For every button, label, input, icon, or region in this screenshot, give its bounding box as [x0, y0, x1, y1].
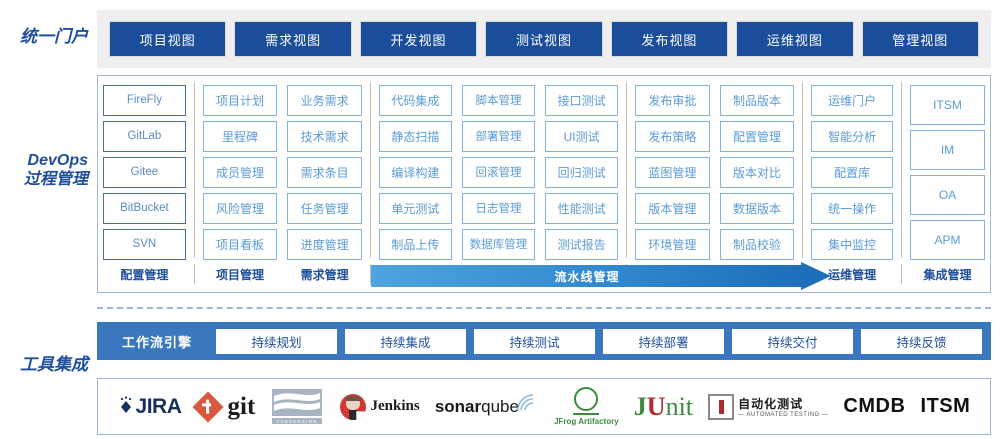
devops-cell[interactable]: 技术需求	[287, 121, 362, 152]
itsm-logo: ITSM	[921, 385, 971, 429]
devops-column-6: 接口测试UI测试回归测试性能测试测试报告	[540, 76, 623, 262]
portal-button-5[interactable]: 发布视图	[611, 21, 728, 57]
git-logo: git	[197, 385, 256, 429]
junit-logo: JUnit	[634, 385, 693, 429]
jfrog-underline	[573, 413, 599, 415]
devops-cell[interactable]: 测试报告	[545, 229, 618, 260]
devops-column-7: 发布审批发布策略蓝图管理版本管理环境管理	[630, 76, 715, 262]
devops-column-footer: 配置管理	[98, 262, 191, 286]
footer-group-1: 配置管理	[98, 262, 191, 286]
devops-cell[interactable]: 编译构建	[379, 157, 452, 188]
devops-column-footer: 需求管理	[282, 262, 367, 286]
row-label-tools: 工具集成	[0, 355, 88, 375]
devops-cell[interactable]: 版本管理	[635, 193, 710, 224]
itsm-wordmark: ITSM	[921, 395, 971, 418]
jenkins-wordmark: Jenkins	[371, 398, 420, 415]
workflow-stage-3[interactable]: 持续测试	[474, 329, 595, 354]
jfrog-wordmark: JFrog Artifactory	[554, 417, 619, 426]
column-group-5: 运维门户智能分析配置库统一操作集中监控	[806, 76, 898, 262]
column-group-4: 发布审批发布策略蓝图管理版本管理环境管理制品版本配置管理版本对比数据版本制品校验	[630, 76, 799, 262]
column-group-divider	[194, 82, 195, 258]
jira-icon	[118, 396, 134, 418]
devops-column-1: FireFlyGitLabGiteeBitBucketSVN	[98, 76, 191, 262]
automated-testing-icon	[708, 394, 734, 420]
sonarqube-logo: sonar qube	[435, 385, 539, 429]
devops-cell[interactable]: 部署管理	[462, 121, 535, 152]
sonarqube-wordmark-bold: sonar	[435, 397, 481, 417]
devops-cell[interactable]: 回滚管理	[462, 157, 535, 188]
jfrog-artifactory-logo: JFrog Artifactory	[554, 385, 619, 429]
footer-group-divider	[194, 264, 195, 284]
devops-cell[interactable]: IM	[910, 130, 985, 170]
devops-column-footer: 项目管理	[198, 262, 283, 286]
devops-cell[interactable]: 制品版本	[720, 85, 795, 116]
devops-cell[interactable]: 统一操作	[811, 193, 893, 224]
jenkins-icon	[340, 394, 366, 420]
devops-cell[interactable]: 业务需求	[287, 85, 362, 116]
workflow-stage-2[interactable]: 持续集成	[345, 329, 466, 354]
automated-testing-logo: 自动化测试 — AUTOMATED TESTING —	[708, 385, 828, 429]
arrow-head	[801, 262, 831, 290]
portal-button-7[interactable]: 管理视图	[862, 21, 979, 57]
footer-group-6: 集成管理	[905, 262, 990, 286]
pipeline-management-arrow: 流水线管理	[371, 265, 831, 287]
tool-logo-strip: JIRA git SUBVERSION Jenkins sonar qube	[97, 378, 991, 435]
devops-cell[interactable]: ITSM	[910, 85, 985, 125]
portal-button-4[interactable]: 测试视图	[485, 21, 602, 57]
junit-wordmark-nit: nit	[666, 392, 693, 422]
svg-text:SUBVERSION: SUBVERSION	[277, 419, 318, 424]
devops-cell[interactable]: 性能测试	[545, 193, 618, 224]
portal-button-6[interactable]: 运维视图	[736, 21, 853, 57]
column-group-1: FireFlyGitLabGiteeBitBucketSVN	[98, 76, 191, 262]
devops-cell[interactable]: 配置库	[811, 157, 893, 188]
jira-logo: JIRA	[118, 385, 182, 429]
devops-cell[interactable]: 风险管理	[203, 193, 278, 224]
devops-cell[interactable]: 项目计划	[203, 85, 278, 116]
devops-cell[interactable]: 里程碑	[203, 121, 278, 152]
devops-cell[interactable]: 配置管理	[720, 121, 795, 152]
devops-cell[interactable]: 智能分析	[811, 121, 893, 152]
devops-cell[interactable]: 蓝图管理	[635, 157, 710, 188]
devops-cell[interactable]: 发布策略	[635, 121, 710, 152]
devops-cell[interactable]: 数据版本	[720, 193, 795, 224]
devops-cell[interactable]: 日志管理	[462, 193, 535, 224]
devops-column-3: 业务需求技术需求需求条目任务管理进度管理	[282, 76, 367, 262]
footer-group-2: 项目管理需求管理	[198, 262, 367, 286]
devops-cell[interactable]: UI测试	[545, 121, 618, 152]
devops-cell[interactable]: 回归测试	[545, 157, 618, 188]
column-group-3: 代码集成静态扫描编译构建单元测试制品上传脚本管理部署管理回滚管理日志管理数据库管…	[374, 76, 623, 262]
devops-column-container: FireFlyGitLabGiteeBitBucketSVN项目计划里程碑成员管…	[98, 76, 990, 262]
devops-cell[interactable]: 成员管理	[203, 157, 278, 188]
devops-column-9: 运维门户智能分析配置库统一操作集中监控	[806, 76, 898, 262]
subversion-logo: SUBVERSION	[270, 385, 324, 429]
devops-cell[interactable]: 数据库管理	[462, 229, 535, 260]
devops-cell[interactable]: 单元测试	[379, 193, 452, 224]
devops-cell[interactable]: 环境管理	[635, 229, 710, 260]
devops-cell[interactable]: GitLab	[103, 121, 186, 152]
column-group-divider	[901, 82, 902, 258]
column-group-2: 项目计划里程碑成员管理风险管理项目看板业务需求技术需求需求条目任务管理进度管理	[198, 76, 367, 262]
git-icon	[192, 391, 223, 422]
sonarqube-wordmark-light: qube	[481, 397, 519, 417]
devops-cell[interactable]: 接口测试	[545, 85, 618, 116]
workflow-stage-6[interactable]: 持续反馈	[861, 329, 982, 354]
row-label-portal: 统一门户	[0, 27, 88, 47]
junit-wordmark-u: U	[647, 392, 666, 422]
devops-column-2: 项目计划里程碑成员管理风险管理项目看板	[198, 76, 283, 262]
workflow-stage-1[interactable]: 持续规划	[216, 329, 337, 354]
devops-cell[interactable]: APM	[910, 220, 985, 260]
devops-process-card: FireFlyGitLabGiteeBitBucketSVN项目计划里程碑成员管…	[97, 75, 991, 293]
portal-view-bar: 项目视图需求视图开发视图测试视图发布视图运维视图管理视图	[97, 10, 991, 68]
devops-column-10: ITSMIMOAAPM	[905, 76, 990, 262]
devops-cell[interactable]: 发布审批	[635, 85, 710, 116]
devops-cell[interactable]: 项目看板	[203, 229, 278, 260]
footer-group-divider	[901, 264, 902, 284]
devops-column-footer: 集成管理	[905, 262, 990, 286]
devops-cell[interactable]: 运维门户	[811, 85, 893, 116]
devops-cell[interactable]: 任务管理	[287, 193, 362, 224]
devops-column-5: 脚本管理部署管理回滚管理日志管理数据库管理	[457, 76, 540, 262]
devops-cell[interactable]: OA	[910, 175, 985, 215]
workflow-stage-5[interactable]: 持续交付	[732, 329, 853, 354]
devops-column-8: 制品版本配置管理版本对比数据版本制品校验	[715, 76, 800, 262]
jfrog-icon	[574, 387, 598, 411]
cmdb-logo: CMDB	[843, 385, 905, 429]
section-divider	[97, 307, 991, 309]
devops-cell[interactable]: Gitee	[103, 157, 186, 188]
devops-cell[interactable]: 版本对比	[720, 157, 795, 188]
junit-wordmark-j: J	[634, 392, 647, 422]
portal-button-3[interactable]: 开发视图	[360, 21, 477, 57]
portal-button-1[interactable]: 项目视图	[109, 21, 226, 57]
portal-button-2[interactable]: 需求视图	[234, 21, 351, 57]
automated-testing-wordmark-en: — AUTOMATED TESTING —	[738, 412, 828, 418]
devops-cell[interactable]: FireFly	[103, 85, 186, 116]
jira-wordmark: JIRA	[136, 395, 182, 419]
git-wordmark: git	[228, 393, 256, 421]
sonarqube-arc-icon	[517, 394, 539, 412]
devops-cell[interactable]: 需求条目	[287, 157, 362, 188]
workflow-stage-4[interactable]: 持续部署	[603, 329, 724, 354]
automated-testing-wordmark-cn: 自动化测试	[738, 395, 828, 412]
column-group-divider	[370, 82, 371, 258]
devops-cell[interactable]: 静态扫描	[379, 121, 452, 152]
devops-cell[interactable]: 脚本管理	[462, 85, 535, 116]
cmdb-wordmark: CMDB	[843, 395, 905, 418]
column-group-6: ITSMIMOAAPM	[905, 76, 990, 262]
devops-column-4: 代码集成静态扫描编译构建单元测试制品上传	[374, 76, 457, 262]
devops-cell[interactable]: 集中监控	[811, 229, 893, 260]
workflow-engine-bar: 工作流引擎 持续规划持续集成持续测试持续部署持续交付持续反馈	[97, 322, 991, 360]
devops-cell[interactable]: 制品校验	[720, 229, 795, 260]
arrow-label: 流水线管理	[371, 265, 803, 287]
devops-cell[interactable]: 制品上传	[379, 229, 452, 260]
subversion-icon: SUBVERSION	[270, 387, 324, 427]
devops-cell[interactable]: BitBucket	[103, 193, 186, 224]
devops-cell[interactable]: 代码集成	[379, 85, 452, 116]
jenkins-logo: Jenkins	[340, 385, 420, 429]
column-group-divider	[802, 82, 803, 258]
column-group-divider	[626, 82, 627, 258]
devops-cell[interactable]: SVN	[103, 229, 186, 260]
row-label-devops: DevOps 过程管理	[0, 152, 88, 190]
workflow-engine-label: 工作流引擎	[102, 322, 212, 360]
devops-cell[interactable]: 进度管理	[287, 229, 362, 260]
